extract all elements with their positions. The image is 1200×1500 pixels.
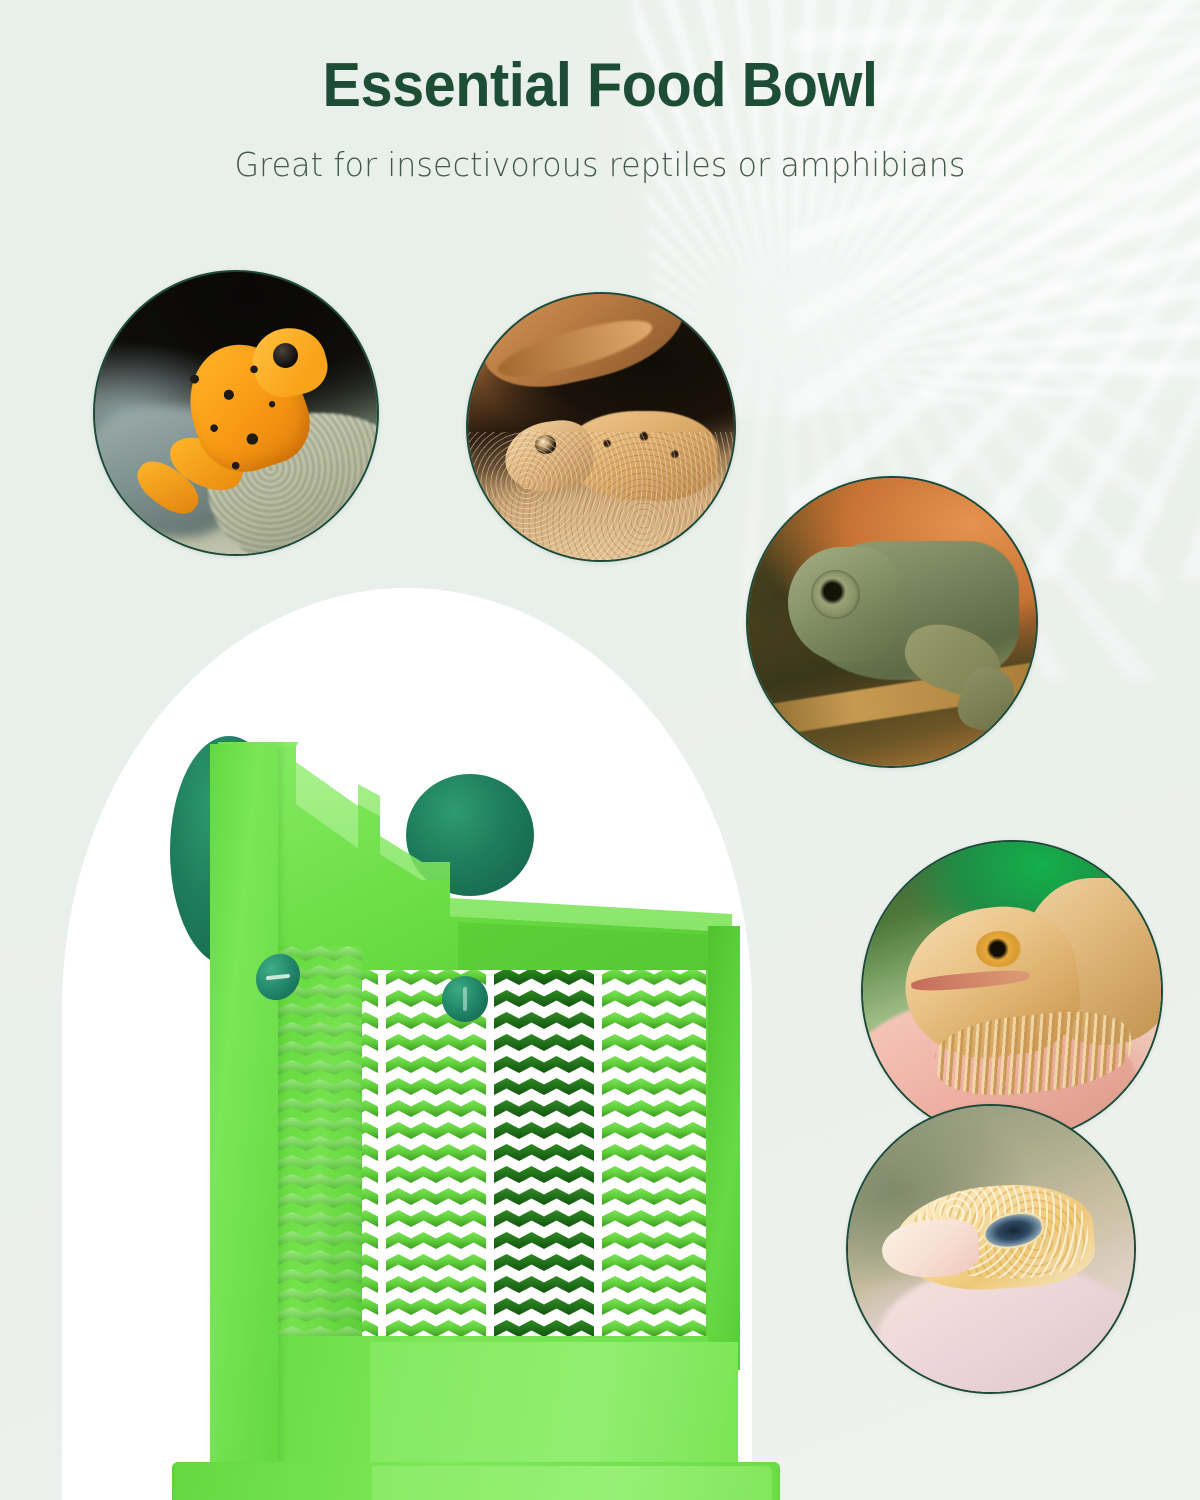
chevron-slot [494,1078,594,1095]
photo-poison-dart-frog [93,270,379,556]
chevron-slot [386,1254,486,1271]
ramp-texture-ridge [278,1193,362,1208]
ramp-texture-ridge [278,1060,362,1075]
chevron-slot [494,1320,594,1337]
ramp-texture-ridge [278,1155,362,1170]
page-title: Essential Food Bowl [42,54,1158,117]
chevron-slot [602,1298,706,1315]
chevron-slot [602,1034,706,1051]
chevron-slot [386,1122,486,1139]
ramp-texture-ridge [278,1269,362,1284]
ramp-texture-ridge [278,1041,362,1056]
chevron-slot [386,1100,486,1117]
chevron-slot [494,990,594,1007]
chevron-slot [386,1210,486,1227]
textured-climb-ramp [278,946,362,1362]
chevron-slot [386,1078,486,1095]
ramp-texture-ridge [278,1003,362,1018]
chevron-slot [602,1100,706,1117]
photo-leopard-gecko-sand [466,292,736,562]
chevron-slot [602,1012,706,1029]
ramp-texture-ridge [278,1231,362,1246]
stepped-top-rim [262,744,732,970]
chevron-slot [386,1056,486,1073]
ramp-texture-ridge [278,1288,362,1303]
photo-chameleon [746,476,1038,768]
chevron-slot [494,1034,594,1051]
product-stage [62,588,752,1500]
chevron-slot [602,1320,706,1337]
chevron-slot [494,1188,594,1205]
chevron-slot [494,1012,594,1029]
chevron-slot [386,1144,486,1161]
chevron-slot [602,1210,706,1227]
chevron-slot [386,1034,486,1051]
chevron-mesh-column [494,946,594,1366]
chameleon-scene [748,478,1036,766]
chevron-slot [494,968,594,985]
chevron-slot [494,1298,594,1315]
ramp-texture-ridge [278,1212,362,1227]
chevron-slot [494,1232,594,1249]
chevron-slot [494,1144,594,1161]
header: Essential Food Bowl Great for insectivor… [0,0,1200,184]
ramp-texture-ridge [278,1022,362,1037]
chevron-slot [386,1276,486,1293]
frog-eye [273,343,298,368]
ramp-texture-ridge [278,1307,362,1322]
front-left-wall [210,744,278,1470]
base-foot-highlight [372,1466,772,1500]
chevron-slot [602,1232,706,1249]
feeding-trough-front-face [370,1342,738,1470]
ramp-texture-ridge [278,1174,362,1189]
chevron-slot [494,1276,594,1293]
chevron-slot [386,1166,486,1183]
chevron-slot [386,1298,486,1315]
sand-substrate [468,432,734,560]
tray-right-wall [708,926,740,1370]
chevron-slot [494,1254,594,1271]
chevron-slot [602,990,706,1007]
chevron-slot [602,1166,706,1183]
ramp-texture-ridge [278,1079,362,1094]
chevron-slot [602,1078,706,1095]
chevron-slot [602,1144,706,1161]
chevron-slot [494,1122,594,1139]
mounting-bolt-right [442,976,488,1022]
photo-bearded-dragon [861,840,1163,1142]
chevron-slot [602,1276,706,1293]
chevron-slot [494,1166,594,1183]
gecko-snout [881,1218,981,1280]
chevron-mesh-column [602,946,706,1366]
bearded-dragon-scene [863,842,1161,1140]
product-feeding-bowl [122,736,702,1500]
dragon-eye [976,931,1021,967]
chevron-slot [602,1122,706,1139]
ramp-texture-ridge [278,1098,362,1113]
ramp-texture-ridge [278,1117,362,1132]
chevron-slot [386,1320,486,1337]
chevron-slot [602,968,706,985]
gecko-sand-scene [468,294,734,560]
photo-leopard-gecko-pale [846,1104,1136,1394]
chevron-slot [386,1232,486,1249]
page-subtitle: Great for insectivorous reptiles or amph… [24,145,1176,184]
ramp-texture-ridge [278,1250,362,1265]
gecko-pale-scene [848,1106,1134,1392]
chevron-slot [386,1188,486,1205]
page-root: Essential Food Bowl Great for insectivor… [0,0,1200,1500]
ramp-texture-ridge [278,1136,362,1151]
chevron-slot [602,1254,706,1271]
frog-scene [95,272,377,554]
chevron-slot [494,1100,594,1117]
chevron-slot [602,1188,706,1205]
chevron-slot [602,1056,706,1073]
chevron-slot [494,1056,594,1073]
chevron-slot [494,1210,594,1227]
